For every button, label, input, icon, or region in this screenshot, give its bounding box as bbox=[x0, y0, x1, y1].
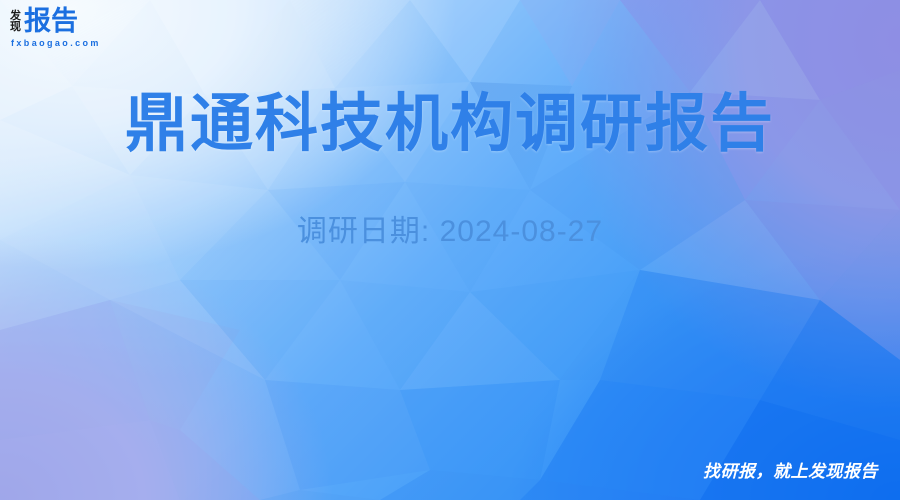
logo-row: 发 现 报告 bbox=[10, 8, 78, 35]
footer-slogan: 找研报，就上发现报告 bbox=[703, 457, 878, 482]
logo-domain-text: fxbaogao.com bbox=[11, 38, 101, 48]
logo-mark-characters: 发 现 bbox=[10, 11, 21, 35]
logo-wordmark: 报告 bbox=[24, 8, 78, 35]
brand-logo[interactable]: 发 现 报告 fxbaogao.com bbox=[10, 8, 101, 48]
logo-mark-bottom: 现 bbox=[10, 22, 21, 33]
report-cover-page: 发 现 报告 fxbaogao.com 鼎通科技机构调研报告 调研日期: 202… bbox=[0, 0, 900, 500]
page-title: 鼎通科技机构调研报告 bbox=[125, 90, 775, 158]
page-subtitle: 调研日期: 2024-08-27 bbox=[297, 206, 603, 250]
